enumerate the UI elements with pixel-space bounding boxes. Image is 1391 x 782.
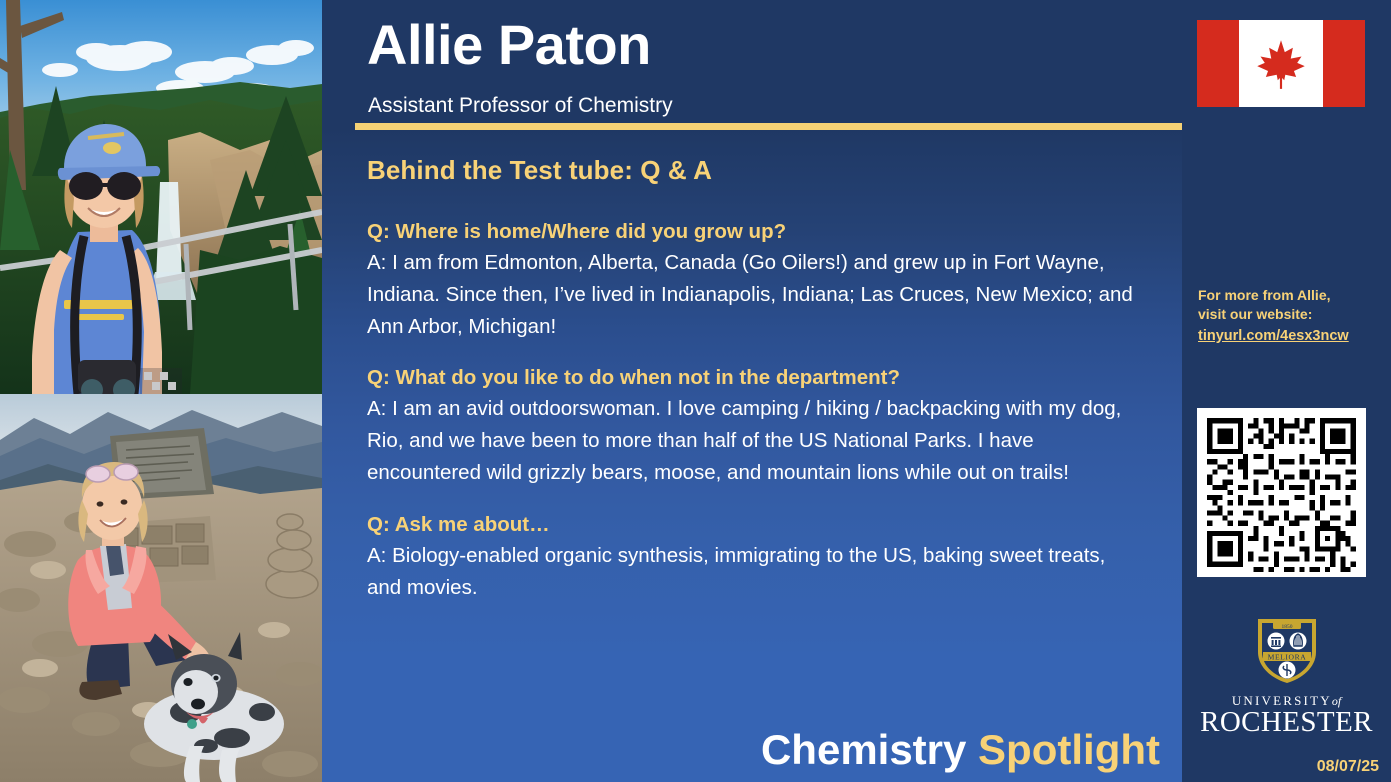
- promo-line-2: visit our website:: [1198, 305, 1383, 324]
- section-heading: Behind the Test tube: Q & A: [367, 155, 1137, 186]
- qa-answer: A: I am from Edmonton, Alberta, Canada (…: [367, 247, 1137, 342]
- page-title: Allie Paton: [367, 16, 651, 75]
- canadian-flag-icon: [1197, 20, 1365, 107]
- date-stamp: 08/07/25: [1317, 758, 1379, 776]
- qa-item-3: Q: Ask me about… A: Biology-enabled orga…: [367, 511, 1137, 604]
- footer-word-chemistry: Chemistry: [761, 726, 966, 773]
- wordmark-line-2: ROCHESTER: [1200, 708, 1373, 737]
- website-link[interactable]: tinyurl.com/4esx3ncw: [1198, 326, 1349, 346]
- qr-code[interactable]: [1197, 408, 1366, 577]
- qa-question: Q: Where is home/Where did you grow up?: [367, 218, 1137, 245]
- spotlight-slide: Allie Paton Assistant Professor of Chemi…: [0, 0, 1391, 782]
- shield-motto: MELIORA: [1267, 652, 1306, 661]
- photo-waterfall-portrait: [0, 0, 322, 394]
- qa-section: Behind the Test tube: Q & A Q: Where is …: [367, 155, 1137, 625]
- qa-item-2: Q: What do you like to do when not in th…: [367, 364, 1137, 488]
- qa-answer: A: I am an avid outdoorswoman. I love ca…: [367, 393, 1137, 488]
- qa-item-1: Q: Where is home/Where did you grow up? …: [367, 218, 1137, 342]
- qa-question: Q: Ask me about…: [367, 511, 1137, 538]
- qa-question: Q: What do you like to do when not in th…: [367, 364, 1137, 391]
- photo-column: [0, 0, 322, 782]
- job-title: Assistant Professor of Chemistry: [368, 94, 673, 118]
- flag-center-field: [1239, 20, 1323, 107]
- maple-leaf-icon: [1254, 37, 1308, 91]
- flag-band-right: [1323, 20, 1365, 107]
- right-sidebar: For more from Allie, visit our website: …: [1182, 0, 1391, 782]
- promo-line-1: For more from Allie,: [1198, 286, 1383, 305]
- promo-block: For more from Allie, visit our website: …: [1198, 286, 1383, 346]
- svg-text:1850: 1850: [1281, 624, 1292, 630]
- flag-band-left: [1197, 20, 1239, 107]
- university-wordmark: UNIVERSITYof ROCHESTER: [1200, 694, 1373, 737]
- footer-word-spotlight: Spotlight: [978, 726, 1160, 773]
- qa-answer: A: Biology-enabled organic synthesis, im…: [367, 540, 1137, 604]
- ur-shield-icon: 1850 MELIORA: [1251, 612, 1323, 688]
- footer-brand: Chemistry Spotlight: [322, 726, 1182, 774]
- university-logo: 1850 MELIORA: [1182, 612, 1391, 742]
- photo-summit-with-dog: [0, 394, 322, 782]
